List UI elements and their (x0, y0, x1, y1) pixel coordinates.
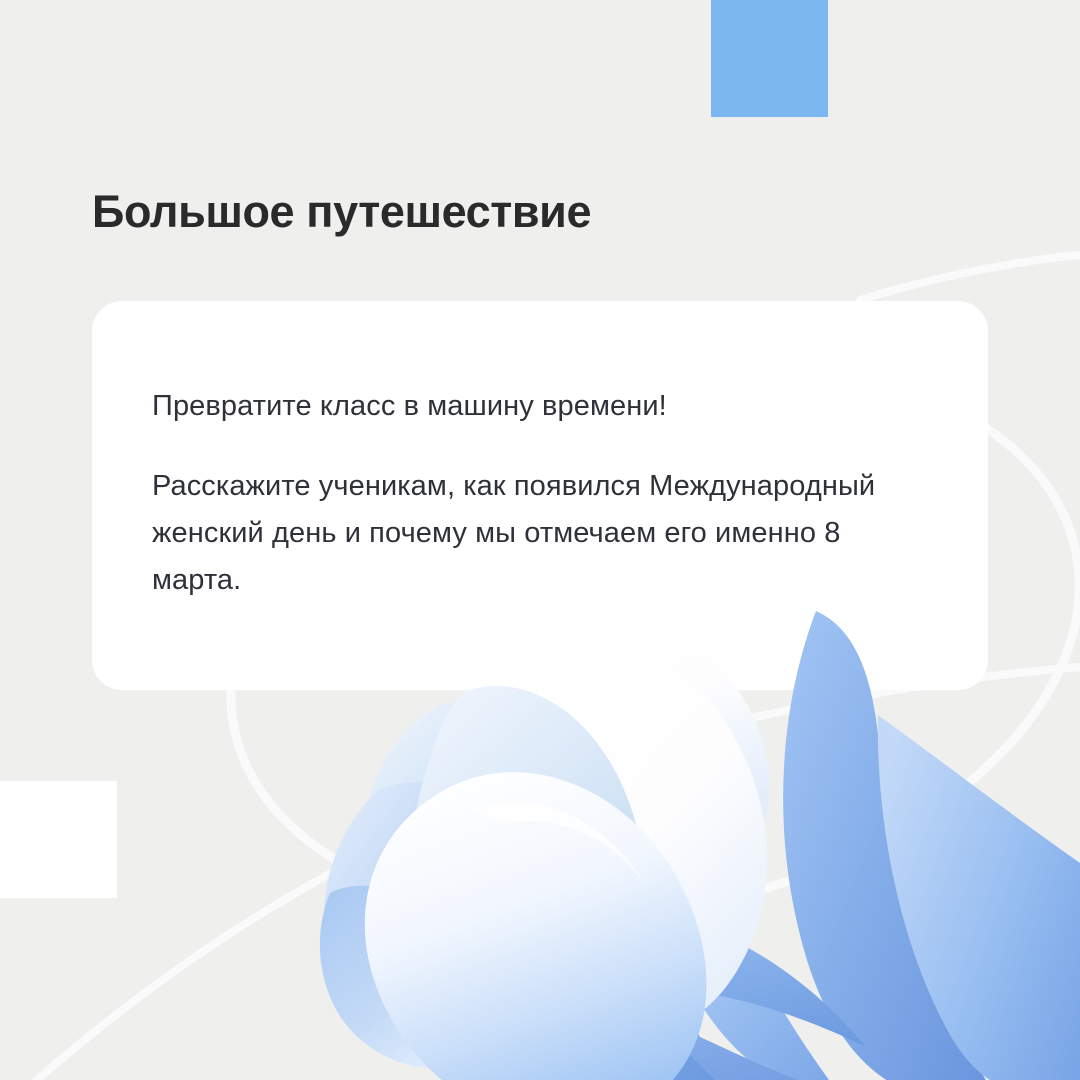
poster-canvas: Большое путешествие Превратите класс в м… (0, 0, 1080, 1080)
orbit-arc-secondary (0, 664, 1080, 1080)
petal-front (365, 772, 707, 1080)
leaf-outer-right (878, 715, 1080, 1080)
leaf-sweep-lower (356, 897, 866, 1047)
accent-square-white (0, 781, 117, 898)
card-paragraph-1: Превратите класс в машину времени! (152, 383, 912, 430)
content-card: Превратите класс в машину времени! Расск… (92, 301, 988, 690)
card-paragraph-2: Расскажите ученикам, как появился Междун… (152, 463, 912, 604)
petal-back-left (364, 702, 496, 927)
tulip-stem (536, 845, 730, 1080)
petal-middle (409, 686, 646, 1056)
leaf-tall-left (566, 690, 720, 1080)
leaf-sweep-lower-2 (370, 965, 860, 1080)
petal-left (324, 782, 482, 1020)
leaf-tall-right (612, 745, 840, 1080)
orbit-arc-top (860, 252, 1080, 300)
accent-square-blue (711, 0, 828, 117)
petal-lower-left (320, 886, 496, 1069)
petal-front-highlight (472, 802, 646, 887)
page-title: Большое путешествие (92, 186, 591, 238)
petal-right (488, 636, 767, 1036)
card-body: Превратите класс в машину времени! Расск… (152, 383, 912, 604)
